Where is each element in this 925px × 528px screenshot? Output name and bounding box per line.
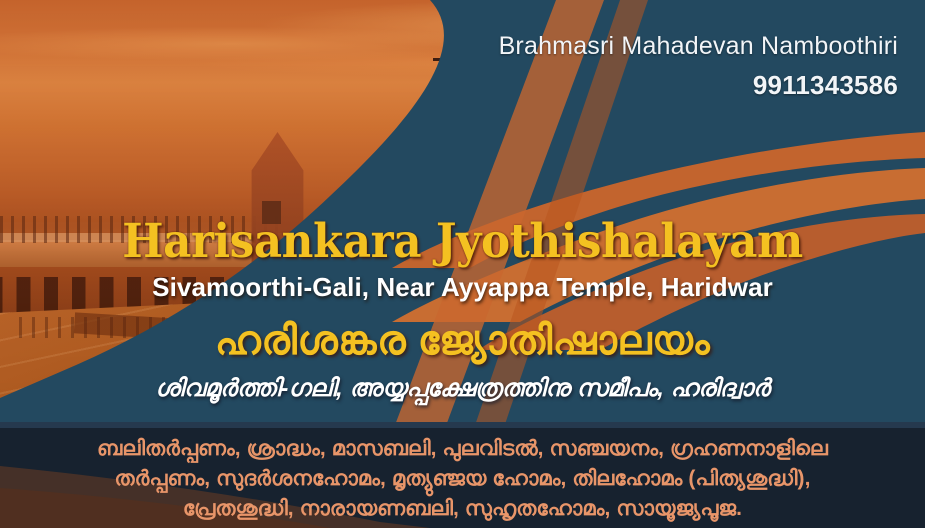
services-line-2: തർപ്പണം, സുദർശനഹോമം, മൃത്യുഞ്ജയ ഹോമം, തി… [14,464,911,494]
services-line-3: പ്രേതശുദ്ധി, നാരായണബലി, സുഹൃതഹോമം, സായൂജ… [14,494,911,524]
phone-number: 9911343586 [499,69,898,102]
services-band: ബലിതർപ്പണം, ശ്രാദ്ധം, മാസബലി, പുലവിടൽ, സ… [0,422,925,528]
business-title-english: Harisankara Jyothishalayam [32,218,892,265]
services-list: ബലിതർപ്പണം, ശ്രാദ്ധം, മാസബലി, പുലവിടൽ, സ… [0,434,925,523]
services-line-1: ബലിതർപ്പണം, ശ്രാദ്ധം, മാസബലി, പുലവിടൽ, സ… [14,434,911,464]
business-address-malayalam: ശിവമൂർത്തി-ഗലി, അയ്യപ്പക്ഷേത്രത്തിനു സമീ… [0,375,925,403]
contact-block: Brahmasri Mahadevan Namboothiri 99113435… [499,32,898,101]
business-card: Brahmasri Mahadevan Namboothiri 99113435… [0,0,925,528]
business-title-malayalam: ഹരിശങ്കര ജ്യോതിഷാലയം [0,318,925,364]
astrologer-name: Brahmasri Mahadevan Namboothiri [499,32,898,62]
business-address-english: Sivamoorthi-Gali, Near Ayyappa Temple, H… [0,274,925,300]
